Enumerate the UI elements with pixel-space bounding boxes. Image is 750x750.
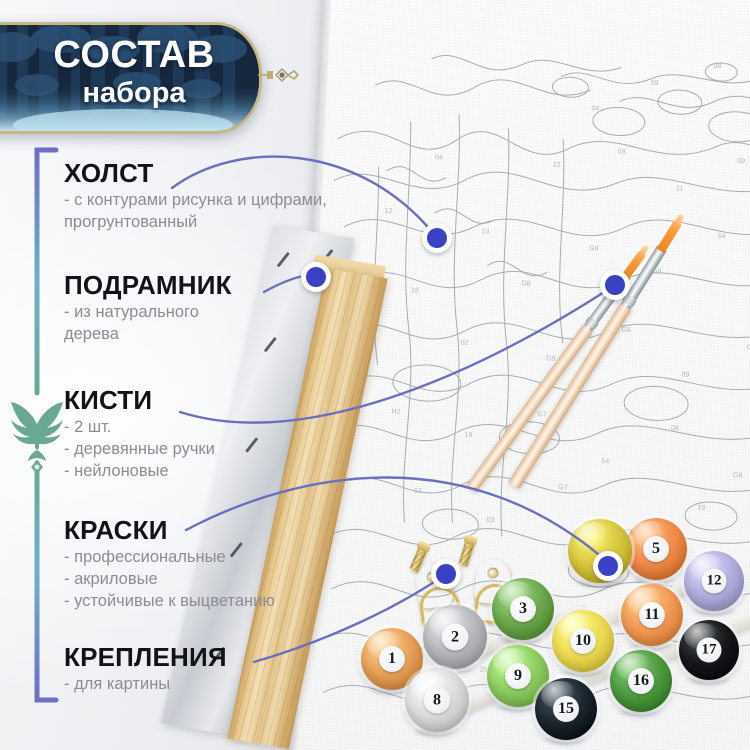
svg-text:G7: G7 [558, 484, 568, 491]
svg-text:12: 12 [414, 488, 422, 495]
section-bullets: - из натурального дерева [64, 302, 232, 346]
svg-text:08: 08 [713, 63, 721, 70]
section-bullets: - профессиональные - акриловые - устойчи… [64, 547, 275, 613]
bullet: - нейлоновые [64, 461, 215, 483]
section-paints: КРАСКИ - профессиональные - акриловые - … [64, 517, 275, 613]
paint-pot-number: 11 [639, 602, 665, 628]
svg-text:09: 09 [650, 80, 658, 87]
svg-text:12: 12 [384, 208, 392, 215]
section-bullets: - с контурами рисунка и цифрами, прогрун… [64, 190, 327, 234]
svg-text:14: 14 [482, 228, 490, 235]
brand-emblem-icon [9, 398, 65, 474]
paint-pot[interactable]: 3 [492, 578, 554, 640]
paint-pot[interactable]: 17 [679, 620, 739, 680]
paint-pot-number: 17 [697, 638, 722, 663]
bullet: - с контурами рисунка и цифрами, [64, 190, 327, 212]
bullet: - акриловые [64, 569, 275, 591]
svg-text:12: 12 [553, 162, 561, 169]
section-bullets: - 2 шт. - деревянные ручки - нейлоновые [64, 417, 215, 483]
callout-dot-mounts[interactable] [431, 559, 461, 589]
section-canvas: ХОЛСТ - с контурами рисунка и цифрами, п… [64, 160, 327, 234]
paint-pot-number: 10 [570, 628, 596, 654]
svg-text:54: 54 [718, 233, 726, 240]
paint-pot-number: 9 [505, 663, 531, 689]
section-title: КРАСКИ [64, 517, 275, 544]
svg-text:19: 19 [697, 504, 705, 511]
callout-dot-paints[interactable] [593, 551, 623, 581]
svg-text:09: 09 [681, 372, 689, 379]
section-brushes: КИСТИ - 2 шт. - деревянные ручки - нейло… [64, 387, 215, 483]
svg-text:08: 08 [617, 148, 625, 155]
bullet: - профессиональные [64, 547, 275, 569]
banner-title: СОСТАВ [9, 36, 259, 74]
svg-text:04: 04 [435, 154, 443, 161]
header-banner: СОСТАВ набора [0, 22, 262, 134]
banner-subtitle: набора [9, 79, 259, 108]
section-title: ХОЛСТ [64, 160, 327, 187]
paint-pot[interactable]: 12 [684, 551, 744, 611]
poster-root: 0908 0904 1208 1109 0412 14G8 G9G8 5418 … [0, 0, 750, 750]
section-mounts: КРЕПЛЕНИЯ - для картины [64, 644, 227, 696]
callout-dot-brushes[interactable] [600, 270, 630, 300]
staple-icon [245, 437, 258, 452]
staple-icon [264, 337, 277, 352]
svg-text:54: 54 [601, 458, 609, 465]
svg-text:04: 04 [591, 105, 599, 112]
section-title: ПОДРАМНИК [64, 272, 232, 299]
paint-pot[interactable]: 15 [535, 678, 597, 740]
svg-text:G9: G9 [733, 472, 743, 479]
svg-text:09: 09 [737, 158, 745, 165]
svg-text:02: 02 [461, 340, 469, 347]
paint-pot[interactable]: 16 [610, 650, 672, 712]
paint-pot-number: 3 [510, 596, 536, 622]
paint-pot-number: 5 [643, 536, 669, 562]
banner-finial-ornament [258, 58, 302, 92]
svg-text:G8: G8 [521, 280, 531, 287]
svg-text:03: 03 [486, 517, 494, 524]
paint-pot-number: 1 [379, 646, 405, 672]
paint-pot-number: 2 [442, 624, 469, 651]
svg-text:11: 11 [676, 185, 684, 192]
bullet: - устойчивые к выцветанию [64, 591, 275, 613]
section-title: КРЕПЛЕНИЯ [64, 644, 227, 671]
svg-text:G8: G8 [621, 327, 631, 334]
callout-dot-stretcher[interactable] [301, 262, 331, 292]
section-bullets: - для картины [64, 674, 227, 696]
svg-text:G9: G9 [589, 245, 599, 252]
paint-pot[interactable]: 11 [621, 584, 683, 646]
svg-text:19: 19 [464, 432, 472, 439]
bullet: дерева [64, 324, 232, 346]
bullet: - 2 шт. [64, 417, 215, 439]
svg-text:G7: G7 [537, 411, 547, 418]
bullet: - деревянные ручки [64, 439, 215, 461]
bullet: прогрунтованный [64, 212, 327, 234]
section-title: КИСТИ [64, 387, 215, 414]
paint-pot-number: 15 [553, 696, 579, 722]
svg-text:G9: G9 [546, 355, 556, 362]
paint-pot[interactable]: 10 [552, 610, 614, 672]
section-stretcher: ПОДРАМНИК - из натурального дерева [64, 272, 232, 346]
svg-text:08: 08 [671, 425, 679, 432]
bullet: - для картины [64, 674, 227, 696]
callout-dot-canvas[interactable] [422, 223, 452, 253]
svg-text:G2: G2 [747, 344, 750, 351]
paint-pot[interactable]: 2 [423, 605, 487, 669]
paint-pot-number: 16 [628, 668, 654, 694]
bullet: - из натурального [64, 302, 232, 324]
paint-pot-number: 12 [702, 569, 727, 594]
staple-icon [277, 252, 290, 267]
banner-text-group: СОСТАВ набора [0, 36, 259, 108]
paint-pot[interactable]: 8 [405, 668, 469, 732]
paint-pot-number: 8 [424, 687, 451, 714]
